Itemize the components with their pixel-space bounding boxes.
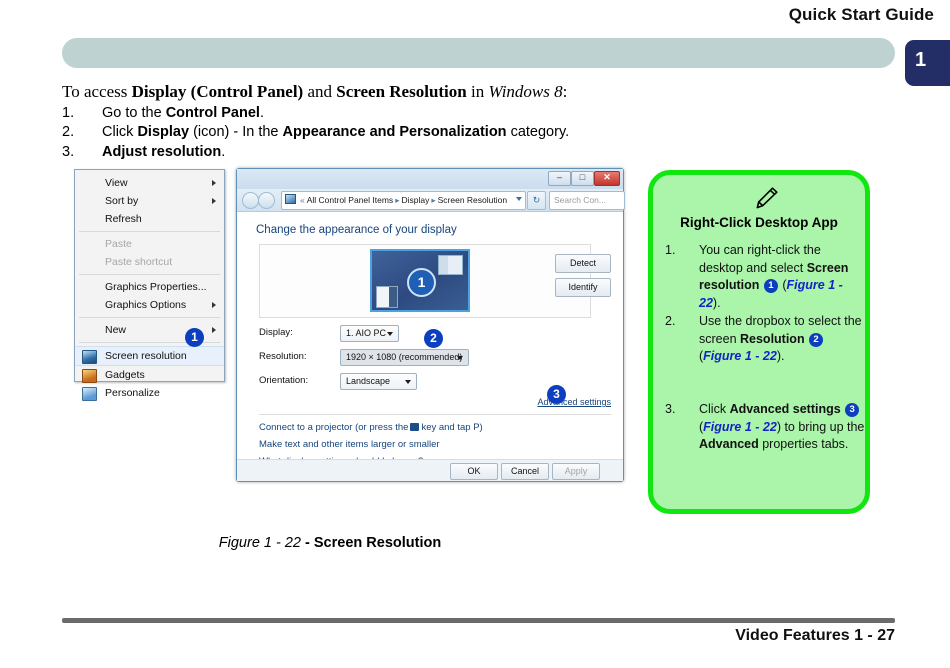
intro-prefix: To access: [62, 82, 132, 101]
forward-button[interactable]: [258, 192, 275, 209]
menu-item-label: Screen resolution: [105, 350, 187, 362]
menu-item-graphics-options[interactable]: Graphics Options: [75, 296, 224, 314]
menu-item-label: Graphics Options: [105, 299, 186, 311]
step-text-pre: Go to the: [102, 105, 166, 121]
dialog-footer: OK Cancel Apply: [237, 459, 623, 481]
chevron-down-icon: [387, 332, 393, 336]
menu-item-refresh[interactable]: Refresh: [75, 210, 224, 228]
menu-item-sort-by[interactable]: Sort by: [75, 192, 224, 210]
chevron-down-icon: [457, 356, 463, 360]
figure-name: Screen Resolution: [314, 535, 441, 551]
note-item-number: 3.: [665, 401, 693, 419]
detect-button-label: Detect: [570, 258, 596, 268]
menu-item-paste-shortcut: Paste shortcut: [75, 253, 224, 271]
maximize-button[interactable]: □: [571, 171, 594, 186]
windows-key-icon: [410, 423, 419, 431]
search-input[interactable]: Search Con...: [549, 191, 625, 210]
note-list-item-1: 1. You can right-click the desktop and s…: [665, 242, 865, 312]
footer-page-label: Video Features 1 - 27: [735, 627, 895, 645]
note-item-text: Use the dropbox to select the screen Res…: [699, 313, 865, 366]
chevron-down-icon: [405, 380, 411, 384]
step-text-pre: Click: [102, 124, 137, 140]
figure-label: Figure 1 - 22: [219, 535, 301, 551]
minimize-button[interactable]: –: [548, 171, 571, 186]
resolution-combobox-value: 1920 × 1080 (recommended): [346, 352, 462, 362]
address-chevron: «: [298, 195, 307, 205]
footer-divider: [62, 618, 895, 623]
step-number: 2.: [62, 124, 102, 140]
note-text-part: ).: [713, 296, 721, 310]
note-bold-part: Resolution: [740, 332, 805, 346]
note-item-number: 2.: [665, 313, 693, 331]
menu-item-label: Gadgets: [105, 369, 145, 381]
figure-caption: Figure 1 - 22 - Screen Resolution: [0, 535, 660, 551]
connect-projector-link[interactable]: Connect to a projector (or press thekey …: [259, 422, 483, 433]
minimize-icon: –: [549, 171, 570, 184]
menu-item-graphics-properties[interactable]: Graphics Properties...: [75, 278, 224, 296]
cancel-button[interactable]: Cancel: [501, 463, 549, 480]
step-text-post: .: [221, 144, 225, 160]
figure-reference[interactable]: Figure 1 - 22: [703, 349, 777, 363]
intro-suffix: in: [467, 82, 489, 101]
inline-badge-1: 1: [764, 279, 778, 293]
back-button[interactable]: [242, 192, 259, 209]
menu-item-label: View: [105, 177, 128, 189]
menu-item-label: Graphics Properties...: [105, 281, 207, 293]
step-text-bold: Adjust resolution: [102, 144, 221, 160]
menu-item-label: Sort by: [105, 195, 138, 207]
close-icon: ✕: [595, 171, 619, 184]
thumbnail-window-top-right: [438, 255, 463, 275]
display-combobox[interactable]: 1. AIO PC: [340, 325, 399, 342]
step-number: 3.: [62, 144, 102, 160]
breadcrumb-display[interactable]: Display: [401, 195, 429, 205]
breadcrumb-all-control-panel-items[interactable]: All Control Panel Items: [307, 195, 393, 205]
monitor-thumbnail[interactable]: 1: [370, 249, 470, 312]
callout-badge-3: 3: [547, 385, 566, 404]
intro-italic-windows: Windows 8: [488, 82, 562, 101]
intro-mid: and: [303, 82, 336, 101]
window-navigation-bar: «All Control Panel Items▸Display▸Screen …: [237, 189, 623, 212]
detect-button[interactable]: Detect: [555, 254, 611, 273]
orientation-combobox[interactable]: Landscape: [340, 373, 417, 390]
note-list-item-3: 3. Click Advanced settings 3 (Figure 1 -…: [665, 401, 865, 454]
dialog-heading: Change the appearance of your display: [256, 224, 457, 236]
identify-button-label: Identify: [568, 282, 597, 292]
menu-item-label: Personalize: [105, 387, 160, 399]
step-text-post: category.: [507, 124, 570, 140]
resolution-combobox[interactable]: 1920 × 1080 (recommended): [340, 349, 469, 366]
figure-reference[interactable]: Figure 1 - 22: [703, 420, 777, 434]
gadgets-icon: [82, 369, 97, 383]
address-dropdown-icon[interactable]: [516, 197, 522, 201]
note-bold-part: Advanced settings: [730, 402, 841, 416]
intro-end: :: [563, 82, 568, 101]
close-button[interactable]: ✕: [594, 171, 620, 186]
pen-icon: [751, 185, 781, 211]
menu-item-label: Refresh: [105, 213, 142, 225]
display-preview-panel: 1: [259, 244, 591, 318]
intro-bold-display: Display (Control Panel): [132, 82, 304, 101]
menu-separator: [79, 231, 220, 232]
note-text-part: ) to bring up the: [777, 420, 865, 434]
menu-item-paste: Paste: [75, 235, 224, 253]
intro-bold-screen-resolution: Screen Resolution: [336, 82, 467, 101]
intro-paragraph: To access Display (Control Panel) and Sc…: [62, 82, 567, 102]
ok-button[interactable]: OK: [450, 463, 498, 480]
page-title: Quick Start Guide: [789, 5, 934, 25]
menu-item-label: Paste shortcut: [105, 256, 172, 268]
display-combobox-value: 1. AIO PC: [346, 328, 386, 338]
screen-resolution-window[interactable]: – □ ✕ «All Control Panel Items▸Display▸S…: [236, 168, 624, 482]
resolution-field-label: Resolution:: [259, 351, 307, 362]
submenu-arrow-icon: [212, 327, 216, 333]
step-number: 1.: [62, 105, 102, 121]
page-header-bar: [62, 38, 895, 68]
menu-item-personalize[interactable]: Personalize: [75, 384, 224, 402]
submenu-arrow-icon: [212, 302, 216, 308]
breadcrumb-screen-resolution[interactable]: Screen Resolution: [438, 195, 507, 205]
maximize-icon: □: [572, 171, 593, 184]
apply-button: Apply: [552, 463, 600, 480]
note-text-part: You can right-click the desktop and sele…: [699, 243, 821, 275]
chapter-tab-number: 1: [915, 49, 926, 72]
refresh-button[interactable]: ↻: [527, 191, 546, 210]
control-panel-icon: [285, 194, 296, 204]
step-text-mid: (icon) - In the: [189, 124, 282, 140]
connect-projector-text-1: Connect to a projector (or press the: [259, 422, 408, 433]
display-field-label: Display:: [259, 327, 293, 338]
menu-item-label: Paste: [105, 238, 132, 250]
step-item-1: 1.Go to the Control Panel.: [62, 105, 264, 121]
menu-item-view[interactable]: View: [75, 174, 224, 192]
chapter-tab: 1: [905, 40, 950, 86]
note-text-part: (: [779, 278, 787, 292]
figure-dash: -: [301, 535, 314, 551]
menu-separator: [79, 317, 220, 318]
breadcrumb-separator: ▸: [429, 195, 437, 205]
menu-separator: [79, 274, 220, 275]
callout-badge-2: 2: [424, 329, 443, 348]
step-item-3: 3.Adjust resolution.: [62, 144, 225, 160]
orientation-combobox-value: Landscape: [346, 376, 390, 386]
step-text-bold: Control Panel: [166, 105, 260, 121]
inline-badge-2: 2: [809, 333, 823, 347]
monitor-number-badge: 1: [407, 268, 436, 297]
personalize-icon: [82, 387, 97, 401]
note-item-text: Click Advanced settings 3 (Figure 1 - 22…: [699, 401, 865, 454]
note-bold-part: Advanced: [699, 437, 759, 451]
address-bar[interactable]: «All Control Panel Items▸Display▸Screen …: [281, 191, 526, 210]
menu-item-label: New: [105, 324, 126, 336]
step-text-bold: Display: [137, 124, 189, 140]
note-title: Right-Click Desktop App: [653, 215, 865, 230]
divider: [259, 414, 611, 415]
note-item-number: 1.: [665, 242, 693, 260]
note-text-part: Click: [699, 402, 730, 416]
note-text-part: properties tabs.: [759, 437, 849, 451]
identify-button[interactable]: Identify: [555, 278, 611, 297]
note-list-item-2: 2. Use the dropbox to select the screen …: [665, 313, 865, 366]
note-text-part: ).: [777, 349, 785, 363]
connect-projector-text-2: key and tap P): [421, 422, 482, 433]
make-text-larger-link[interactable]: Make text and other items larger or smal…: [259, 439, 440, 450]
orientation-field-label: Orientation:: [259, 375, 308, 386]
screen-resolution-icon: [82, 350, 97, 364]
step-text-post: .: [260, 105, 264, 121]
submenu-arrow-icon: [212, 198, 216, 204]
submenu-arrow-icon: [212, 180, 216, 186]
menu-item-screen-resolution[interactable]: Screen resolution: [75, 346, 224, 366]
note-callout-box: Right-Click Desktop App 1. You can right…: [648, 170, 870, 514]
step-item-2: 2.Click Display (icon) - In the Appearan…: [62, 124, 569, 140]
note-item-text: You can right-click the desktop and sele…: [699, 242, 865, 312]
inline-badge-3: 3: [845, 403, 859, 417]
desktop-context-menu[interactable]: View Sort by Refresh Paste Paste shortcu…: [74, 169, 225, 382]
window-titlebar: – □ ✕: [237, 169, 623, 189]
menu-item-gadgets[interactable]: Gadgets: [75, 366, 224, 384]
callout-badge-1: 1: [185, 328, 204, 347]
step-text-bold2: Appearance and Personalization: [283, 124, 507, 140]
thumbnail-window-bottom-left: [376, 286, 398, 308]
